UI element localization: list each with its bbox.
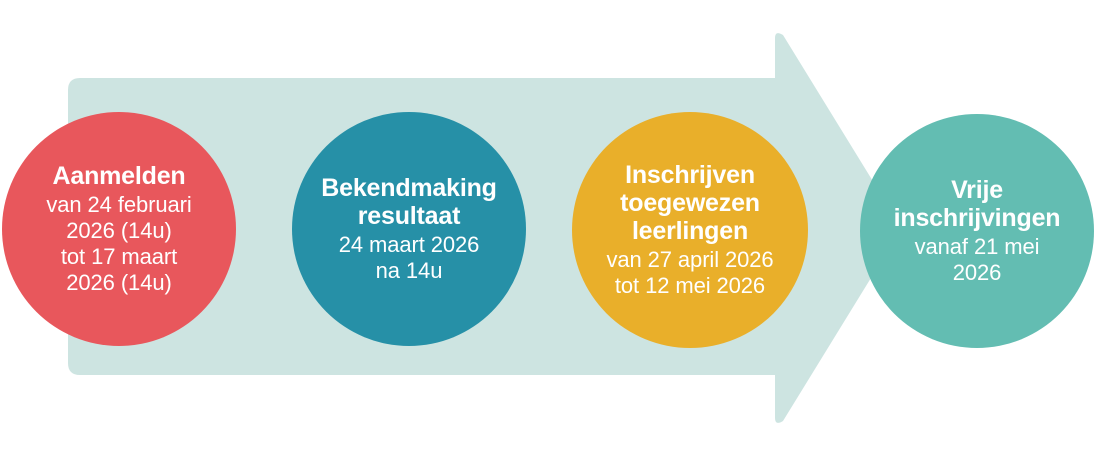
step-subtitle: vanaf 21 mei 2026 <box>915 234 1040 286</box>
infographic-canvas: Aanmelden van 24 februari 2026 (14u) tot… <box>0 0 1096 459</box>
step-subtitle: van 27 april 2026 tot 12 mei 2026 <box>606 247 773 299</box>
step-title: Vrije inschrijvingen <box>894 176 1061 232</box>
step-circle-inschrijven-toegewezen-leerlingen[interactable]: Inschrijven toegewezen leerlingen van 27… <box>572 112 808 348</box>
step-subtitle: van 24 februari 2026 (14u) tot 17 maart … <box>46 192 191 296</box>
step-subtitle: 24 maart 2026 na 14u <box>339 232 480 284</box>
step-title: Aanmelden <box>53 162 186 190</box>
step-circle-aanmelden[interactable]: Aanmelden van 24 februari 2026 (14u) tot… <box>2 112 236 346</box>
step-circle-bekendmaking-resultaat[interactable]: Bekendmaking resultaat 24 maart 2026 na … <box>292 112 526 346</box>
step-title: Bekendmaking resultaat <box>321 174 496 230</box>
step-title: Inschrijven toegewezen leerlingen <box>620 161 760 245</box>
step-circle-vrije-inschrijvingen[interactable]: Vrije inschrijvingen vanaf 21 mei 2026 <box>860 114 1094 348</box>
